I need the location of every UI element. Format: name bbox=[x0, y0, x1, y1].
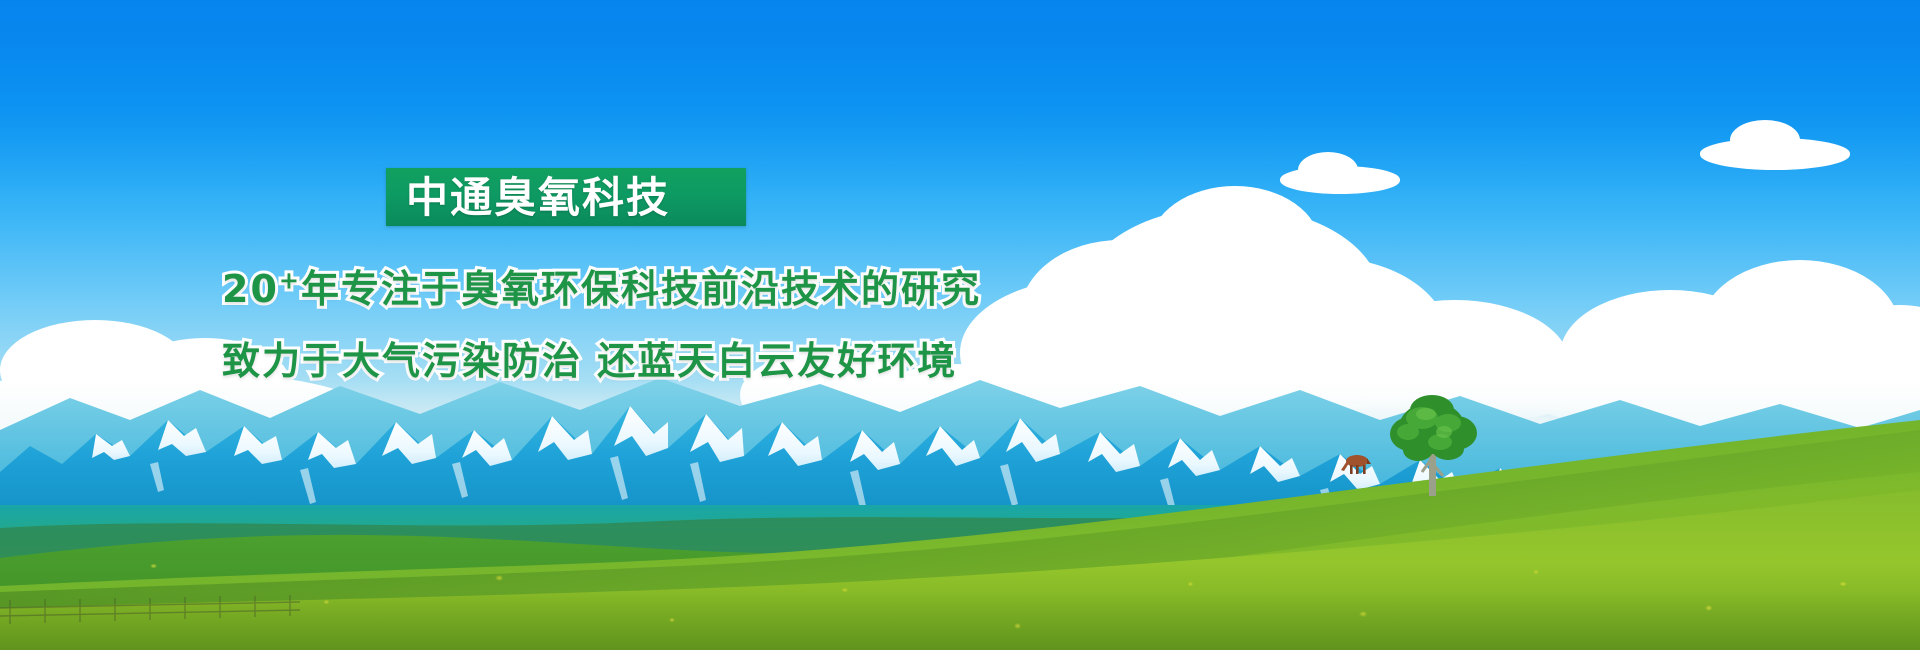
wooden-fence bbox=[0, 592, 300, 632]
lone-tree-icon bbox=[1378, 388, 1488, 498]
tagline-2-text: 致力于大气污染防治 还蓝天白云友好环境 bbox=[222, 339, 957, 383]
brand-title: 中通臭氧科技 bbox=[406, 174, 736, 222]
tagline-line-1: 20+年专注于臭氧环保科技前沿技术的研究 bbox=[222, 258, 981, 313]
tagline-1-superscript: + bbox=[279, 266, 301, 294]
tagline-1-prefix: 20 bbox=[222, 267, 279, 311]
hero-banner: 中通臭氧科技 20+年专注于臭氧环保科技前沿技术的研究 致力于大气污染防治 还蓝… bbox=[0, 0, 1920, 650]
tagline-1-text: 年专注于臭氧环保科技前沿技术的研究 bbox=[301, 267, 981, 311]
grazing-horse-icon bbox=[1338, 452, 1372, 476]
tagline-line-2: 致力于大气污染防治 还蓝天白云友好环境 bbox=[222, 330, 957, 385]
sky-top-gradient bbox=[0, 0, 1920, 200]
